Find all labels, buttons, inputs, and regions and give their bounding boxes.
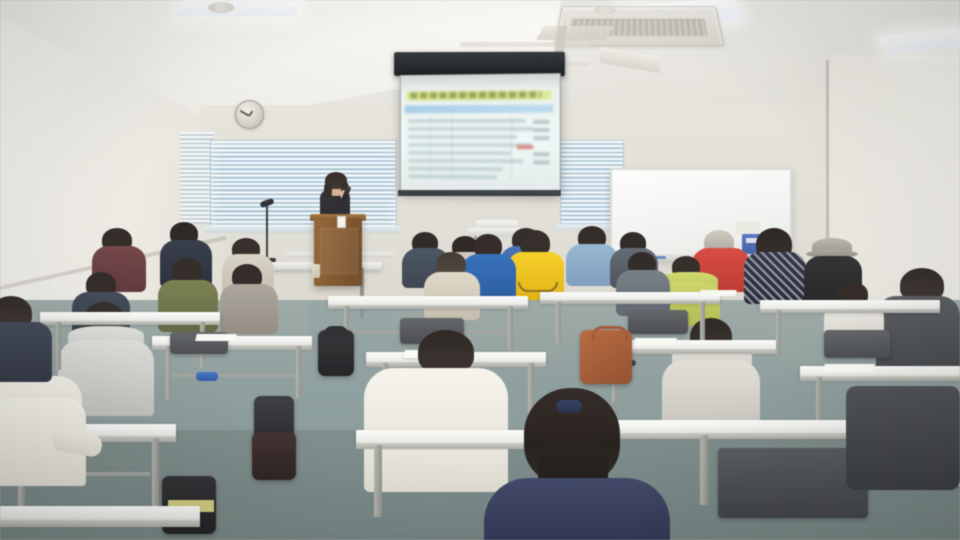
desk-edge <box>328 305 528 309</box>
window-blinds[interactable] <box>210 140 397 230</box>
backpack-floor-black <box>318 330 354 376</box>
desk-edge <box>540 300 720 304</box>
desk-leg <box>296 346 301 398</box>
podium-panel <box>320 228 358 274</box>
desk-edge <box>760 309 940 313</box>
attendee-torso <box>484 478 670 540</box>
bag-strap <box>592 326 628 341</box>
paper-handout <box>823 364 875 372</box>
classroom-photo <box>0 0 960 540</box>
wall-clock <box>235 100 264 129</box>
fluorescent-light-panel <box>176 0 305 16</box>
desk-leg <box>700 435 708 505</box>
clock-minute-hand <box>240 110 249 116</box>
air-vent <box>536 26 614 40</box>
chair[interactable] <box>824 330 890 358</box>
desk-leg <box>556 302 561 344</box>
bag-floor <box>252 432 296 480</box>
paper-handout <box>195 334 237 341</box>
paper-handout <box>699 290 736 296</box>
ceiling-speaker-icon <box>208 2 234 13</box>
desk-leg <box>700 302 705 344</box>
projection-screen-bottom-bar <box>398 190 561 196</box>
ceiling-rail <box>458 42 591 47</box>
ceiling-speaker-icon <box>594 6 616 15</box>
slide-title-text <box>410 91 541 98</box>
desk-leg <box>508 306 513 350</box>
desk-leg <box>56 322 61 370</box>
desk-leg <box>776 310 781 354</box>
slide-header-bar <box>405 105 554 114</box>
window-sill <box>205 226 400 233</box>
pencil-case <box>196 372 218 381</box>
desk-edge <box>0 520 200 527</box>
desk-brace <box>172 374 296 377</box>
desk-leg <box>374 445 382 517</box>
coat-on-chair <box>846 386 960 490</box>
projection-screen <box>400 73 561 195</box>
desk-edge <box>40 321 220 325</box>
presenter-name-badge <box>337 216 346 228</box>
desk-leg <box>152 438 159 506</box>
slide-highlight-cell <box>517 145 533 149</box>
hair-tie <box>556 400 582 413</box>
water-bottle <box>312 264 320 278</box>
desk-edge <box>800 376 960 381</box>
microphone-stand <box>266 206 268 262</box>
paper-handout <box>633 338 677 345</box>
presenter-hair <box>324 182 332 198</box>
backpack-handle <box>324 326 348 336</box>
desk-edge <box>614 433 874 439</box>
window-blinds[interactable] <box>180 132 214 224</box>
chair[interactable] <box>628 310 688 334</box>
desk-leg <box>166 346 171 400</box>
